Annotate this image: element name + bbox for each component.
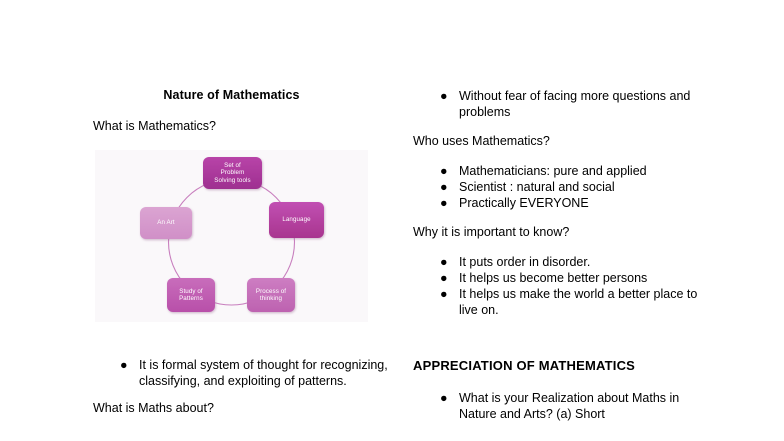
bullet-icon: ●: [440, 254, 448, 270]
document-page: Nature of Mathematics What is Mathematic…: [0, 0, 784, 441]
question-what-is-mathematics: What is Mathematics?: [93, 119, 393, 134]
left-column: Nature of Mathematics What is Mathematic…: [93, 88, 393, 134]
list-item: ● Without fear of facing more questions …: [413, 88, 713, 120]
list-item: ● It is formal system of thought for rec…: [93, 357, 393, 389]
list-item: ● Mathematicians: pure and applied: [413, 163, 713, 179]
list-item: ● What is your Realization about Maths i…: [413, 390, 713, 422]
list-item-label: Without fear of facing more questions an…: [459, 88, 713, 120]
spacer: [413, 318, 713, 338]
nature-of-mathematics-cycle-diagram: Set of Problem Solving tools Language Pr…: [95, 150, 368, 322]
list-item-label: What is your Realization about Maths in …: [459, 390, 713, 422]
spacer: [413, 338, 713, 358]
list-item: ● It helps us make the world a better pl…: [413, 286, 713, 318]
bullet-icon: ●: [440, 390, 448, 406]
spacer: [413, 374, 713, 390]
spacer: [413, 120, 713, 134]
left-bullet-list-1: ● It is formal system of thought for rec…: [93, 357, 393, 389]
list-item: ● It puts order in disorder.: [413, 254, 713, 270]
spacer: [93, 103, 393, 119]
list-item: ● Scientist : natural and social: [413, 179, 713, 195]
cycle-label-text: Process of thinking: [256, 288, 286, 303]
list-item-label: It puts order in disorder.: [459, 254, 713, 270]
list-item: ● It helps us become better persons: [413, 270, 713, 286]
list-item-label: Practically EVERYONE: [459, 195, 713, 211]
question-who-uses-mathematics: Who uses Mathematics?: [413, 134, 713, 149]
question-what-is-maths-about: What is Maths about?: [93, 401, 393, 416]
cycle-node-label-bottom-right: Process of thinking: [247, 278, 295, 312]
bullet-icon: ●: [440, 270, 448, 286]
cycle-label-text: Set of Problem Solving tools: [214, 162, 250, 184]
list-item-label: It is formal system of thought for recog…: [139, 357, 393, 389]
list-item-label: Mathematicians: pure and applied: [459, 163, 713, 179]
right-bullet-list-2: ● Mathematicians: pure and applied ● Sci…: [413, 163, 713, 211]
bullet-icon: ●: [120, 357, 128, 373]
bullet-icon: ●: [440, 163, 448, 179]
left-column-lower: ● It is formal system of thought for rec…: [93, 357, 393, 416]
cycle-node-label-left: An Art: [140, 207, 192, 239]
list-item-label: It helps us become better persons: [459, 270, 713, 286]
right-bullet-list-3: ● It puts order in disorder. ● It helps …: [413, 254, 713, 318]
right-column: ● Without fear of facing more questions …: [413, 88, 713, 422]
spacer: [413, 149, 713, 163]
cycle-label-text: Language: [282, 216, 310, 223]
cycle-node-label-top: Set of Problem Solving tools: [203, 157, 262, 189]
list-item-label: It helps us make the world a better plac…: [459, 286, 713, 318]
cycle-label-text: Study of Patterns: [179, 288, 203, 303]
bullet-icon: ●: [440, 195, 448, 211]
spacer: [413, 211, 713, 225]
question-why-important-to-know: Why it is important to know?: [413, 225, 713, 240]
spacer: [93, 389, 393, 401]
cycle-label-text: An Art: [157, 219, 174, 226]
list-item: ● Practically EVERYONE: [413, 195, 713, 211]
cycle-node-label-bottom-left: Study of Patterns: [167, 278, 215, 312]
bullet-icon: ●: [440, 88, 448, 104]
right-bullet-list-4: ● What is your Realization about Maths i…: [413, 390, 713, 422]
right-bullet-list-1: ● Without fear of facing more questions …: [413, 88, 713, 120]
bullet-icon: ●: [440, 286, 448, 302]
cycle-node-label-right: Language: [269, 202, 324, 238]
page-title: Nature of Mathematics: [93, 88, 370, 103]
section-heading-appreciation: APPRECIATION OF MATHEMATICS: [413, 358, 713, 374]
spacer: [413, 240, 713, 254]
list-item-label: Scientist : natural and social: [459, 179, 713, 195]
bullet-icon: ●: [440, 179, 448, 195]
